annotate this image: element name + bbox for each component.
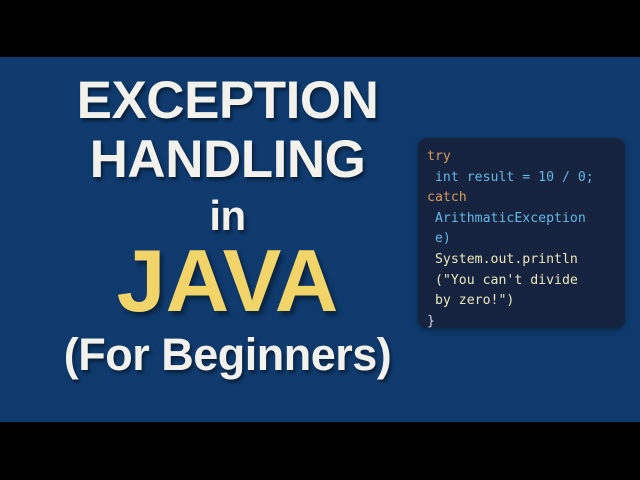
code-line: try [427, 147, 621, 168]
title-line-handling: HANDLING [0, 134, 455, 186]
code-line: } [427, 312, 621, 328]
code-line: System.out.println [427, 250, 621, 271]
code-line: ("You can't divide [427, 271, 621, 292]
title-line-beginners: (For Beginners) [0, 333, 455, 377]
code-snippet-panel: try int result = 10 / 0;catch Arithmatic… [418, 138, 625, 328]
letterbox-bar-bottom [0, 422, 640, 480]
video-thumbnail: EXCEPTION HANDLING in JAVA (For Beginner… [0, 0, 640, 480]
code-line: e) [427, 229, 621, 250]
code-line: int result = 10 / 0; [427, 168, 621, 189]
thumbnail-stage: EXCEPTION HANDLING in JAVA (For Beginner… [0, 57, 640, 422]
code-line: catch [427, 188, 621, 209]
code-line: by zero!") [427, 291, 621, 312]
title-line-java: JAVA [0, 237, 455, 325]
title-block: EXCEPTION HANDLING in JAVA (For Beginner… [0, 57, 455, 422]
code-line: ArithmaticException [427, 209, 621, 230]
title-line-in: in [0, 195, 455, 236]
code-snippet-text: try int result = 10 / 0;catch Arithmatic… [427, 147, 621, 328]
letterbox-bar-top [0, 0, 640, 57]
title-line-exception: EXCEPTION [0, 75, 455, 127]
